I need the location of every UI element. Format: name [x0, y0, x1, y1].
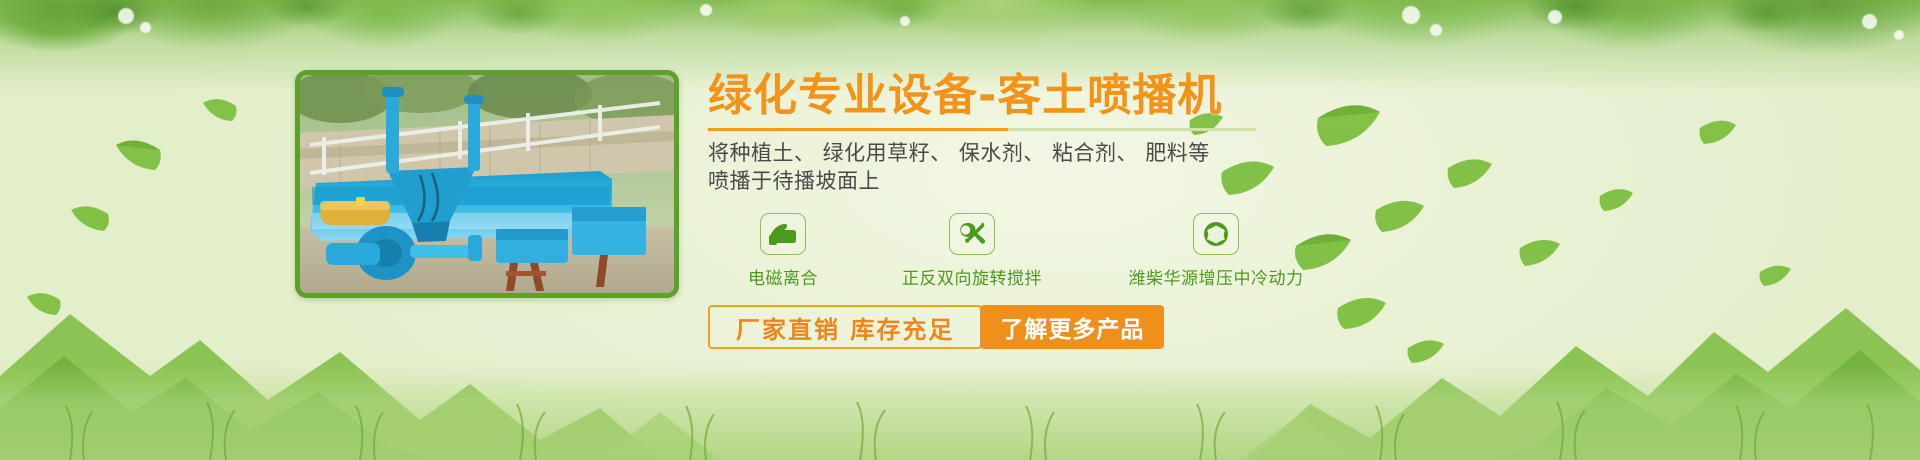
- subtitle-line-2: 喷播于待播坡面上: [708, 167, 1868, 195]
- promo-banner: 绿化专业设备-客土喷播机 将种植土、 绿化用草籽、 保水剂、 粘合剂、 肥料等 …: [0, 0, 1920, 460]
- blossom-icon: [118, 8, 134, 24]
- status-badge: 厂家直销 库存充足: [708, 305, 982, 349]
- divider-accent: [708, 128, 1008, 131]
- feature-icon-box: [1193, 213, 1239, 255]
- feature-icon-box: [760, 213, 806, 255]
- subtitle-line-1: 将种植土、 绿化用草籽、 保水剂、 粘合剂、 肥料等: [708, 139, 1868, 167]
- blossom-icon: [140, 22, 151, 33]
- blossom-icon: [1894, 30, 1904, 40]
- wrench-screwdriver-icon: [958, 220, 986, 248]
- subtitle-block: 将种植土、 绿化用草籽、 保水剂、 粘合剂、 肥料等 喷播于待播坡面上: [708, 139, 1868, 195]
- thumbs-up-icon: [769, 222, 797, 246]
- engine-gear-icon: [1202, 220, 1230, 248]
- blossom-icon: [1548, 10, 1562, 24]
- blossom-icon: [1862, 14, 1877, 29]
- blossom-icon: [700, 4, 712, 16]
- banner-content: 绿化专业设备-客土喷播机 将种植土、 绿化用草籽、 保水剂、 粘合剂、 肥料等 …: [708, 70, 1868, 349]
- product-photo[interactable]: [295, 70, 679, 298]
- blossom-icon: [900, 16, 910, 26]
- feature-item-weichai-power[interactable]: 潍柴华源增压中冷动力: [1086, 213, 1346, 289]
- feature-label: 电磁离合: [748, 264, 818, 289]
- title-divider: [708, 128, 1256, 131]
- grass-band: [0, 364, 1920, 460]
- learn-more-button[interactable]: 了解更多产品: [980, 305, 1164, 349]
- blossom-icon: [1430, 24, 1442, 36]
- feature-label: 潍柴华源增压中冷动力: [1129, 264, 1304, 289]
- blossom-icon: [1402, 6, 1420, 24]
- cta-row: 厂家直销 库存充足 了解更多产品: [708, 305, 1868, 349]
- feature-item-electromagnetic-clutch[interactable]: 电磁离合: [708, 213, 858, 289]
- feature-list: 电磁离合 正反双向旋转搅拌: [708, 213, 1868, 289]
- feature-label: 正反双向旋转搅拌: [902, 264, 1042, 289]
- page-title: 绿化专业设备-客土喷播机: [708, 70, 1868, 122]
- feature-item-bidirectional-mixing[interactable]: 正反双向旋转搅拌: [858, 213, 1086, 289]
- top-foliage-band-dark: [0, 0, 1920, 60]
- feature-icon-box: [949, 213, 995, 255]
